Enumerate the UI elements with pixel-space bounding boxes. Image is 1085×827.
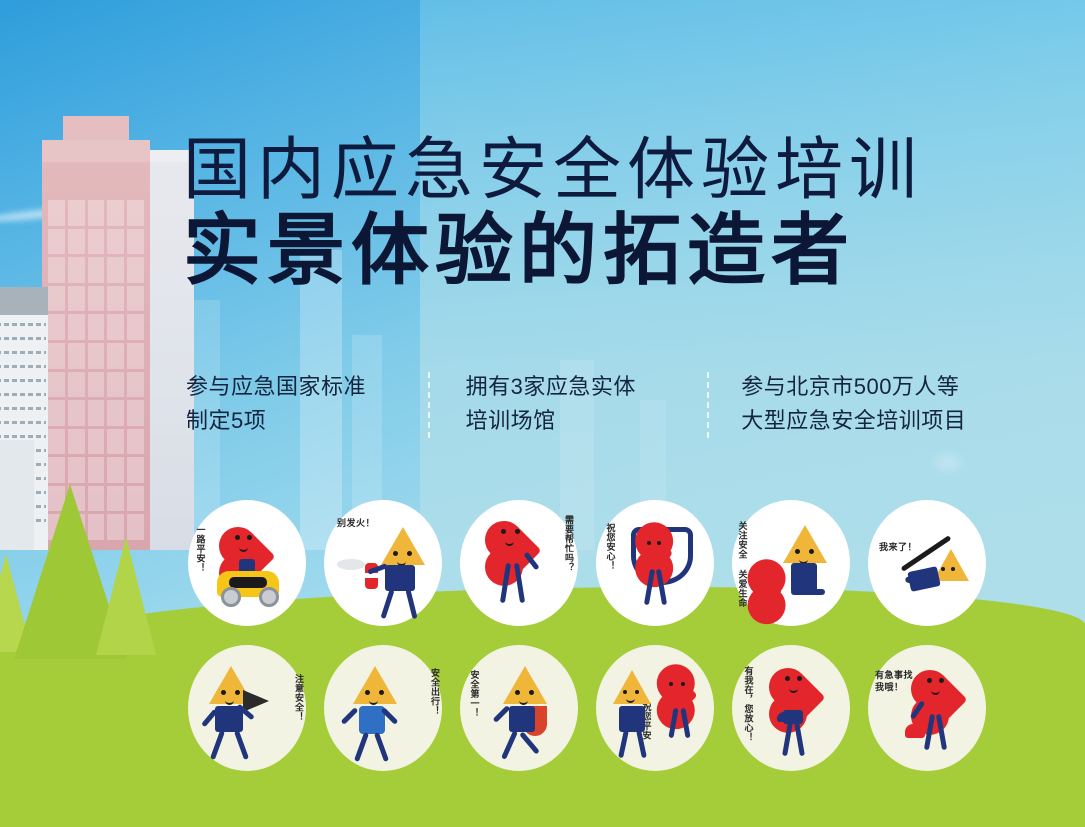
sticker-caption: 我来了！ (879, 543, 917, 553)
sticker-fire-extinguisher[interactable]: 别发火！ (324, 500, 442, 626)
sticker-caption: 祝您安心！ (605, 523, 614, 571)
sticker-caption: 关注安全 关爱生命 (737, 521, 746, 608)
sticker-call-me[interactable]: 有急事找我哦！ (868, 645, 986, 771)
sticker-wish-you-safety[interactable]: 祝您平安 (596, 645, 714, 771)
sticker-heart-in-car[interactable]: 一路平安！ (188, 500, 306, 626)
badge-icon (777, 712, 791, 722)
sticker-caption: 注意安全！ (294, 674, 303, 722)
poster-canvas: 国内应急安全体验培训 实景体验的拓造者 参与应急国家标准 制定5项 拥有3家应急… (0, 0, 1085, 827)
sticker-rest-assured[interactable]: 有我在，您放心！ (732, 645, 850, 771)
sticker-heart-outline[interactable]: 祝您安心！ (596, 500, 714, 626)
sticker-safety-first[interactable]: 安全第一！ (460, 645, 578, 771)
sticker-attention-safety[interactable]: 注意安全！ (188, 645, 306, 771)
sticker-caption: 一路平安！ (195, 525, 204, 573)
sticker-caption: 有急事找我哦！ (875, 670, 915, 693)
sticker-caption: 安全第一！ (469, 670, 478, 718)
heart-mascot-icon (753, 576, 783, 606)
megaphone-icon (243, 690, 269, 712)
sticker-caption: 安全出行！ (430, 668, 439, 716)
sticker-caption: 需要帮忙吗？ (564, 515, 573, 572)
heart-mascot-icon (662, 678, 697, 713)
mascot-sticker-grid: 一路平安！ 别发火！ (0, 0, 1085, 827)
sticker-safe-travel[interactable]: 安全出行！ (324, 645, 442, 771)
sticker-im-coming[interactable]: 我来了！ (868, 500, 986, 626)
sticker-heart-waving[interactable]: 需要帮忙吗？ (460, 500, 578, 626)
spray-icon (337, 559, 365, 570)
heart-mascot-icon (917, 676, 968, 727)
telephone-icon (905, 724, 925, 738)
sticker-care-life[interactable]: 关注安全 关爱生命 (732, 500, 850, 626)
sticker-caption: 别发火！ (337, 519, 375, 529)
sticker-caption: 有我在，您放心！ (743, 666, 752, 742)
